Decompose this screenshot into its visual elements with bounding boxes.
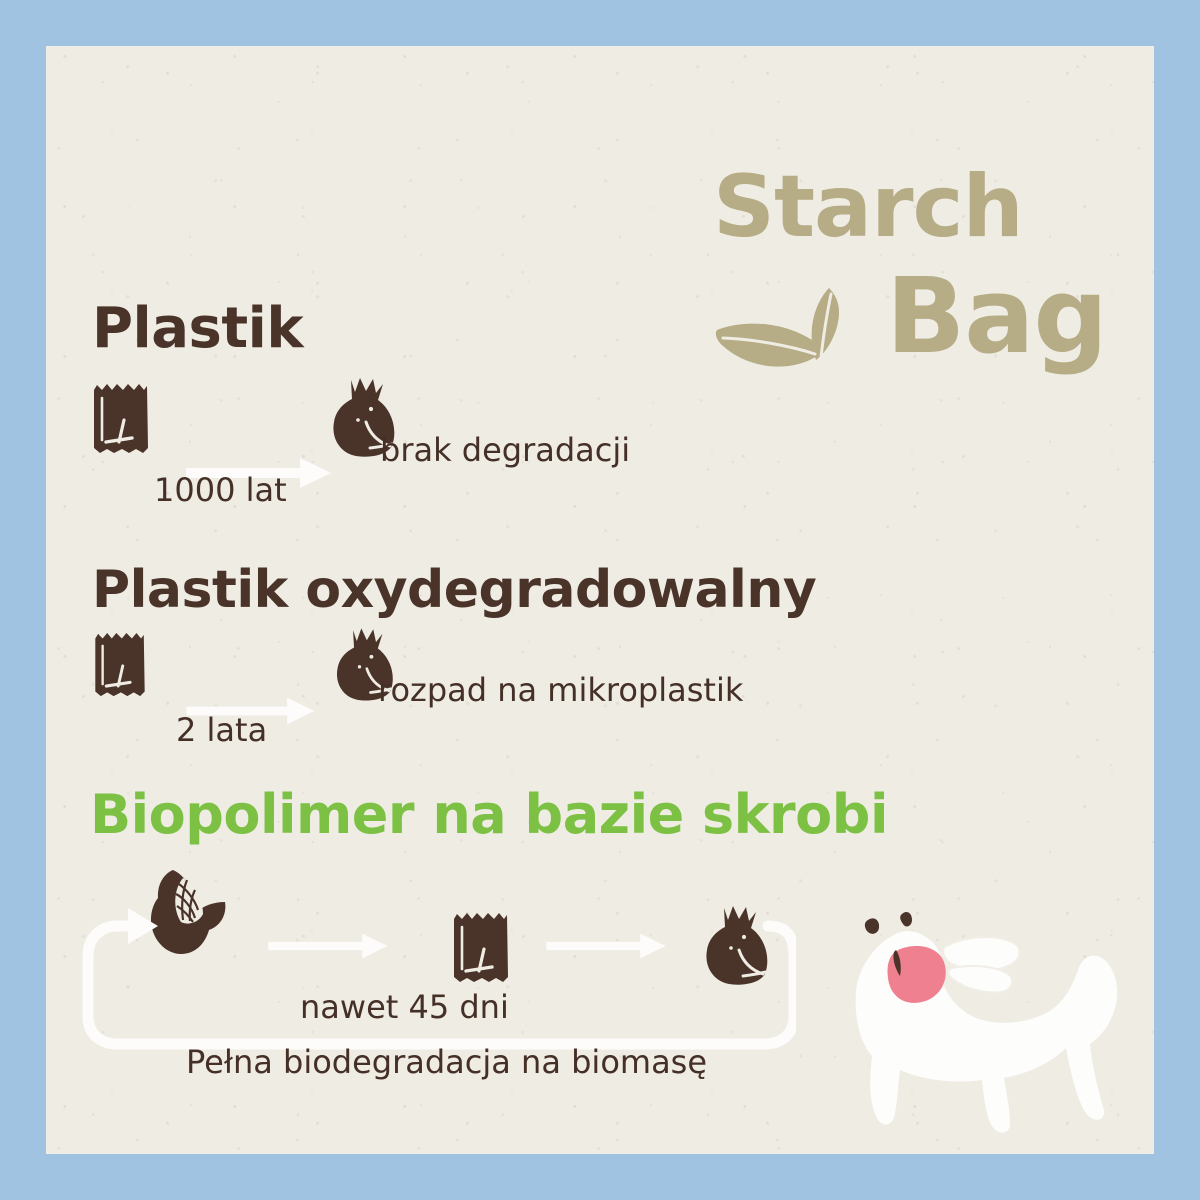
section-starch-biopolymer-heading: Biopolimer na bazie skrobi [90,788,888,842]
section-plastic-result-label: brak degradacji [380,434,630,466]
section-starch-biopolymer-duration-label: nawet 45 dni [300,991,509,1023]
section-oxy-plastic-duration-label: 2 lata [176,714,267,746]
infographic-frame: Starch Bag Plastik [0,0,1200,1200]
section-starch-biopolymer-result-label: Pełna biodegradacja na biomasę [186,1046,707,1078]
two-leaves-icon [711,284,886,389]
cycle-loop-arrow-icon [76,904,796,1054]
brand-word-starch: Starch [713,164,1023,250]
flat-plastic-bag-icon [86,380,156,458]
flat-plastic-bag-icon [88,629,152,701]
section-plastic-duration-label: 1000 lat [154,474,287,506]
brand-logo: Starch Bag [701,164,1131,379]
section-plastic-heading: Plastik [92,301,303,357]
section-oxy-plastic-heading: Plastik oxydegradowalny [92,564,816,616]
section-oxy-plastic-result-label: rozpad na mikroplastik [378,674,743,706]
howling-dog-illustration [826,884,1154,1149]
brand-word-bag: Bag [886,264,1107,368]
paper-panel: Starch Bag Plastik [46,46,1154,1154]
